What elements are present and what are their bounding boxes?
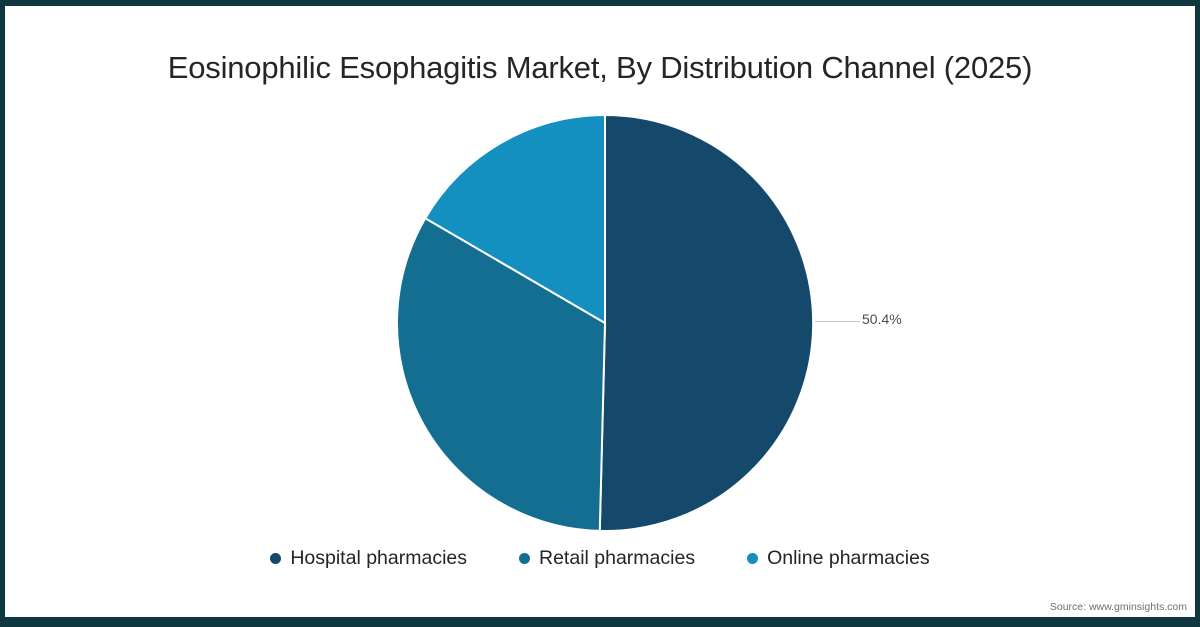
pie-svg xyxy=(390,108,820,538)
legend-swatch-icon xyxy=(270,553,281,564)
chart-figure: Eosinophilic Esophagitis Market, By Dist… xyxy=(0,0,1200,627)
pie-chart xyxy=(390,108,820,538)
pie-slice-group xyxy=(397,115,813,531)
callout-leader-line xyxy=(815,321,860,322)
legend-item-label: Online pharmacies xyxy=(767,547,930,570)
legend-item-label: Retail pharmacies xyxy=(539,547,695,570)
legend-swatch-icon xyxy=(747,553,758,564)
legend-item[interactable]: Hospital pharmacies xyxy=(270,547,467,570)
source-attribution: Source: www.gminsights.com xyxy=(1050,601,1187,613)
legend-item-label: Hospital pharmacies xyxy=(290,547,467,570)
chart-legend: Hospital pharmaciesRetail pharmaciesOnli… xyxy=(5,547,1195,570)
legend-item[interactable]: Online pharmacies xyxy=(747,547,930,570)
page-title: Eosinophilic Esophagitis Market, By Dist… xyxy=(5,50,1195,86)
legend-item[interactable]: Retail pharmacies xyxy=(519,547,695,570)
legend-swatch-icon xyxy=(519,553,530,564)
chart-canvas: Eosinophilic Esophagitis Market, By Dist… xyxy=(5,6,1195,617)
slice-percentage-label: 50.4% xyxy=(862,311,902,327)
pie-slice[interactable] xyxy=(600,115,813,531)
